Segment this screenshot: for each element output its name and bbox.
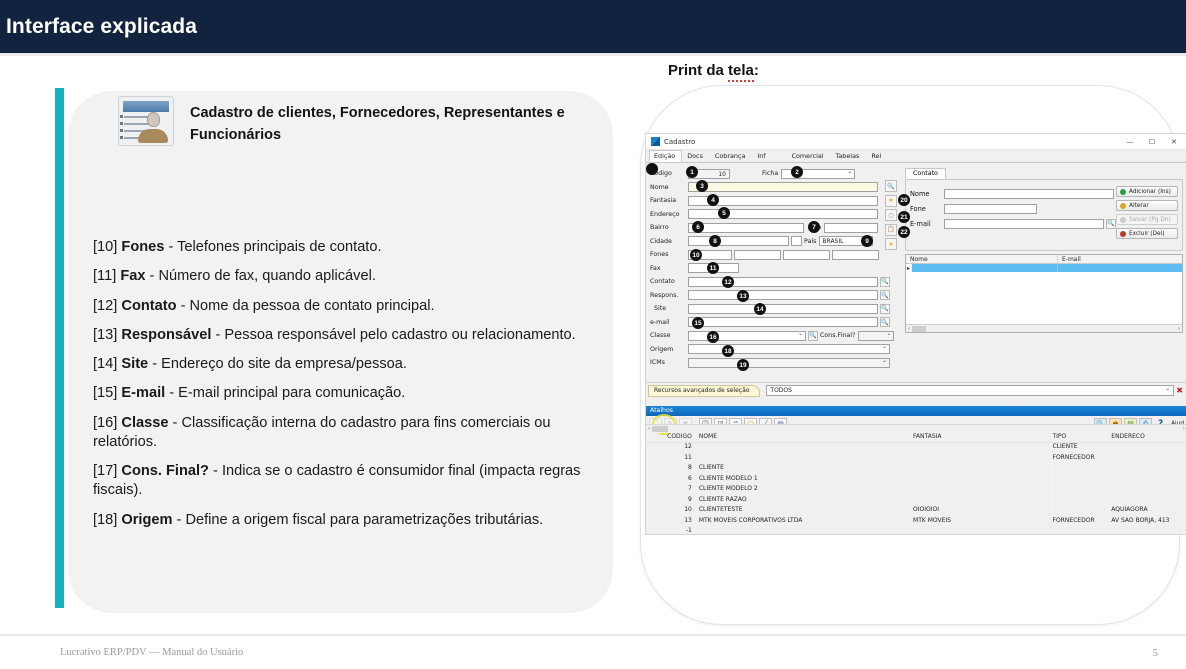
list-item: [14] Site - Endereço do site da empresa/… — [93, 355, 593, 374]
tab-strip: Edição Docs Cobrança Inf Comercial Tabel… — [646, 150, 1186, 163]
search-icon[interactable]: 🔍 — [880, 290, 890, 300]
item-term: Cons. Final? — [121, 463, 209, 479]
select-classe[interactable] — [688, 331, 806, 341]
contato-buttons: Adicionar (Ins) Alterar Salvar (Pg Dn) E… — [1116, 186, 1178, 242]
label-respons: Respons. — [650, 292, 688, 299]
minimize-icon[interactable]: — — [1119, 134, 1141, 149]
records-grid-header: CODIGO NOME FANTASIA TIPO ENDERECO — [646, 433, 1186, 443]
cell-fantasia — [909, 464, 1048, 475]
cell-endereco — [1108, 496, 1186, 507]
cell-nome: MTK MOVEIS CORPORATIVOS LTDA — [696, 517, 909, 528]
item-number: [14] — [93, 356, 117, 372]
cell-fantasia — [909, 527, 1048, 535]
maximize-icon[interactable]: ☐ — [1141, 134, 1163, 149]
tab-edicao[interactable]: Edição — [649, 150, 682, 162]
excluir-button[interactable]: Excluir (Del) — [1116, 228, 1178, 239]
item-term: Responsável — [121, 327, 211, 343]
row-selector-arrow: ▸ — [907, 265, 910, 272]
field-row-bairro: Bairro Cep — [650, 221, 902, 235]
tab-docs[interactable]: Docs — [682, 150, 710, 162]
label-icms: ICMs — [650, 359, 688, 366]
contato-panel: Contato Nome Fone E-mail 🔍 — [905, 167, 1183, 333]
copy-icon[interactable]: 📋 — [885, 224, 897, 236]
input-cidade[interactable] — [688, 236, 789, 246]
cell-endereco — [1108, 454, 1186, 465]
cell-codigo: 11 — [646, 454, 696, 465]
cell-fantasia — [909, 475, 1048, 486]
cell-endereco — [1108, 527, 1186, 535]
cell-endereco — [1108, 443, 1186, 454]
cell-tipo — [1049, 506, 1109, 517]
header-divider — [0, 53, 1186, 56]
table-row[interactable]: 13 MTK MOVEIS CORPORATIVOS LTDA MTK MOVE… — [646, 517, 1186, 528]
cell-codigo: 6 — [646, 475, 696, 486]
item-desc: - Nome da pessoa de contato principal. — [177, 298, 435, 314]
print-screen-label: Print da tela: — [668, 62, 759, 79]
cell-tipo — [1049, 475, 1109, 486]
advanced-filter-bar: Recursos avançados de seleção TODOS ✖ — [646, 382, 1186, 398]
list-item: [18] Origem - Define a origem fiscal par… — [93, 511, 593, 530]
window-body: Código 10 Ficha Nome Fantasia Endereço B… — [646, 163, 1186, 398]
input-endereco[interactable] — [688, 209, 878, 219]
callout-badge-22: 22 — [898, 226, 910, 238]
callout-badge-7: 7 — [808, 221, 820, 233]
column-header-nome[interactable]: Nome — [906, 255, 1058, 263]
item-term: Origem — [121, 512, 172, 528]
tab-cobranca[interactable]: Cobrança — [710, 150, 752, 162]
atalhos-bar: Atalhos — [646, 406, 1186, 416]
slide-footer: Lucrativo ERP/PDV — Manual do Usuário 5 — [0, 636, 1186, 669]
cell-codigo: 13 — [646, 517, 696, 528]
label-nome: Nome — [650, 184, 688, 191]
map-pin-icon[interactable]: ○ — [885, 209, 897, 221]
cell-codigo: -1 — [646, 527, 696, 535]
label-fax: Fax — [650, 265, 688, 272]
table-row[interactable]: 12 CLIENTE — [646, 443, 1186, 454]
scroll-thumb[interactable] — [652, 426, 668, 432]
slide-header: Interface explicada — [0, 0, 1186, 53]
list-item: [10] Fones - Telefones principais de con… — [93, 238, 593, 257]
star-icon[interactable]: ★ — [885, 238, 897, 250]
alterar-label: Alterar — [1129, 203, 1149, 209]
label-bairro: Bairro — [650, 224, 688, 231]
callout-badge-11: 11 — [707, 262, 719, 274]
callout-badge-6: 6 — [692, 221, 704, 233]
table-row[interactable]: 8 CLIENTE — [646, 464, 1186, 475]
item-desc: - Telefones principais de contato. — [164, 239, 381, 255]
tab-inf[interactable]: Inf — [752, 150, 772, 162]
field-row-endereco: Endereço — [650, 208, 902, 222]
callout-badge-8: 8 — [709, 235, 721, 247]
callout-badge-4: 4 — [707, 194, 719, 206]
callout-badge-13: 13 — [737, 290, 749, 302]
field-row-fantasia: Fantasia — [650, 194, 902, 208]
table-row[interactable]: 10 CLIENTETESTE OIOIOIOI AQUIAGORA — [646, 506, 1186, 517]
column-header-codigo[interactable]: CODIGO — [646, 433, 696, 442]
cell-nome — [696, 454, 909, 465]
item-number: [10] — [93, 239, 117, 255]
label-contato-nome: Nome — [910, 190, 944, 198]
column-header-tipo[interactable]: TIPO — [1049, 433, 1109, 442]
table-row[interactable]: 11 FORNECEDOR — [646, 454, 1186, 465]
label-cons-final: Cons.Final? — [820, 332, 855, 339]
window-title: Cadastro — [664, 138, 695, 146]
adicionar-label: Adicionar (Ins) — [1129, 189, 1171, 195]
scroll-right-icon[interactable]: › — [1183, 426, 1185, 432]
callout-badge-16: 16 — [707, 331, 719, 343]
list-item: [13] Responsável - Pessoa responsável pe… — [93, 326, 593, 345]
label-contato: Contato — [650, 278, 688, 285]
label-contato-email: E-mail — [910, 220, 944, 228]
label-pais: País — [804, 238, 816, 245]
salvar-label: Salvar (Pg Dn) — [1129, 217, 1171, 223]
column-header-nome[interactable]: NOME — [696, 433, 909, 442]
cell-endereco — [1108, 485, 1186, 496]
scroll-left-icon[interactable]: ‹ — [648, 426, 650, 432]
search-icon[interactable]: 🔍 — [1106, 219, 1116, 229]
callout-badge-3: 3 — [696, 180, 708, 192]
salvar-button: Salvar (Pg Dn) — [1116, 214, 1178, 225]
cell-tipo — [1049, 527, 1109, 535]
label-email: e-mail — [650, 319, 688, 326]
callout-badge-20: 20 — [898, 194, 910, 206]
cell-endereco — [1108, 464, 1186, 475]
field-row-contato: Contato 🔍 — [650, 275, 902, 289]
search-icon[interactable]: 🔍 — [880, 277, 890, 287]
contato-tabrow: Contato — [905, 167, 1183, 179]
tab-tabelas[interactable]: Tabelas — [831, 150, 867, 162]
item-number: [18] — [93, 512, 117, 528]
cell-nome: CLIENTE MODELO 1 — [696, 475, 909, 486]
alterar-button[interactable]: Alterar — [1116, 200, 1178, 211]
input-site[interactable] — [688, 304, 878, 314]
column-header-endereco[interactable]: ENDERECO — [1108, 433, 1186, 442]
search-icon[interactable]: 🔍 — [808, 331, 818, 341]
field-row-site: Site 🔍 — [650, 302, 902, 316]
excluir-label: Excluir (Del) — [1129, 231, 1164, 237]
table-row[interactable]: 6 CLIENTE MODELO 1 — [646, 475, 1186, 486]
cell-tipo: FORNECEDOR — [1049, 454, 1109, 465]
input-nome[interactable] — [688, 182, 878, 192]
contato-grid-header: Nome E-mail — [906, 255, 1182, 264]
callout-badge-10: 10 — [690, 249, 702, 261]
list-item: [12] Contato - Nome da pessoa de contato… — [93, 297, 593, 316]
list-item: [17] Cons. Final? - Indica se o cadastro… — [93, 462, 593, 501]
item-desc: - E-mail principal para comunicação. — [165, 385, 405, 401]
cell-fantasia — [909, 454, 1048, 465]
cell-endereco: AQUIAGORA — [1108, 506, 1186, 517]
table-row[interactable]: 9 CLIENTE RAZAO — [646, 496, 1186, 507]
cell-nome — [696, 443, 909, 454]
definition-list: [10] Fones - Telefones principais de con… — [93, 238, 593, 540]
clear-filter-icon[interactable]: ✖ — [1176, 386, 1183, 395]
input-contato-nome[interactable] — [944, 189, 1114, 199]
callout-badge-12: 12 — [722, 276, 734, 288]
advanced-selection-tab[interactable]: Recursos avançados de seleção — [648, 385, 760, 397]
callout-badge-14: 14 — [754, 303, 766, 315]
item-number: [16] — [93, 415, 117, 431]
callout-badge-21: 21 — [898, 211, 910, 223]
cell-nome: CLIENTE — [696, 464, 909, 475]
item-term: Fax — [120, 268, 145, 284]
input-contato[interactable] — [688, 277, 878, 287]
search-icon[interactable]: 🔍 — [880, 304, 890, 314]
star-icon[interactable]: ★ — [885, 195, 897, 207]
cell-fantasia — [909, 443, 1048, 454]
records-grid-hscrollbar[interactable]: ‹ › — [646, 424, 1186, 433]
input-fone-2[interactable] — [734, 250, 781, 260]
table-row[interactable]: 7 CLIENTE MODELO 2 — [646, 485, 1186, 496]
label-origem: Origem — [650, 346, 688, 353]
scroll-left-icon[interactable]: ‹ — [908, 326, 910, 332]
cadastro-window: Cadastro — ☐ ✕ Edição Docs Cobrança Inf … — [645, 133, 1186, 535]
cell-nome — [696, 527, 909, 535]
label-classe: Classe — [650, 332, 688, 339]
cell-codigo: 8 — [646, 464, 696, 475]
callout-badge-18: 18 — [722, 345, 734, 357]
adicionar-button[interactable]: Adicionar (Ins) — [1116, 186, 1178, 197]
table-row[interactable] — [912, 264, 1182, 272]
cell-nome: CLIENTE RAZAO — [696, 496, 909, 507]
tab-comercial[interactable]: Comercial — [787, 150, 831, 162]
callout-badge-9: 9 — [861, 235, 873, 247]
select-icms[interactable] — [688, 358, 890, 368]
window-controls: — ☐ ✕ — [1119, 134, 1185, 149]
search-icon[interactable]: 🔍 — [885, 180, 897, 192]
field-row-nome: Nome — [650, 181, 902, 195]
cell-tipo — [1049, 485, 1109, 496]
label-ficha: Ficha — [762, 170, 778, 177]
spellcheck-word: tela — [728, 62, 754, 82]
item-desc: - Número de fax, quando aplicável. — [145, 268, 375, 284]
card-title: Cadastro de clientes, Fornecedores, Repr… — [190, 96, 643, 147]
footer-document-title: Lucrativo ERP/PDV — Manual do Usuário — [60, 647, 243, 658]
input-respons[interactable] — [688, 290, 878, 300]
select-cons-final[interactable] — [858, 331, 894, 341]
cell-endereco: AV SAO BORJA, 413 — [1108, 517, 1186, 528]
trash-icon — [1120, 231, 1126, 237]
input-contato-fone[interactable] — [944, 204, 1037, 214]
list-item: [16] Classe - Classificação interna do c… — [93, 414, 593, 453]
pencil-icon — [1120, 203, 1126, 209]
cell-tipo — [1049, 496, 1109, 507]
list-item: [11] Fax - Número de fax, quando aplicáv… — [93, 267, 593, 286]
cell-fantasia: MTK MOVEIS — [909, 517, 1048, 528]
callout-badge-15: 15 — [692, 317, 704, 329]
input-email[interactable] — [688, 317, 878, 327]
callout-badge-19: 19 — [737, 359, 749, 371]
cell-tipo: FORNECEDOR — [1049, 517, 1109, 528]
callout-badge-2: 2 — [791, 166, 803, 178]
field-row-fones: Fones — [650, 248, 902, 262]
item-term: Contato — [121, 298, 176, 314]
window-titlebar: Cadastro — ☐ ✕ — [646, 134, 1186, 150]
field-row-respons: Respons. 🔍 — [650, 289, 902, 303]
callout-badge-1: 1 — [686, 166, 698, 178]
cell-tipo: CLIENTE — [1049, 443, 1109, 454]
cell-codigo: 12 — [646, 443, 696, 454]
item-desc: - Define a origem fiscal para parametriz… — [173, 512, 544, 528]
input-uf[interactable] — [791, 236, 802, 246]
close-icon[interactable]: ✕ — [1163, 134, 1185, 149]
select-origem[interactable] — [688, 344, 890, 354]
page-title: Interface explicada — [0, 15, 197, 39]
label-fones: Fones — [650, 251, 688, 258]
contato-fields: Nome Fone E-mail 🔍 Adicionar (Ins) — [905, 179, 1183, 251]
label-endereco: Endereço — [650, 211, 688, 218]
card-header: Cadastro de clientes, Fornecedores, Repr… — [118, 96, 643, 147]
callout-badge-spacer — [646, 163, 658, 175]
input-contato-email[interactable] — [944, 219, 1104, 229]
tab-contato[interactable]: Contato — [905, 168, 946, 179]
check-icon — [1120, 217, 1126, 223]
contato-grid-hscrollbar[interactable]: ‹ › — [906, 324, 1182, 332]
scroll-right-icon[interactable]: › — [1178, 326, 1180, 332]
cell-fantasia: OIOIOIOI — [909, 506, 1048, 517]
input-fone-3[interactable] — [783, 250, 830, 260]
label-contato-fone: Fone — [910, 205, 944, 213]
item-number: [15] — [93, 385, 117, 401]
item-desc: - Pessoa responsável pelo cadastro ou re… — [211, 327, 575, 343]
field-row-classe: Classe 🔍 Cons.Final? — [650, 329, 902, 343]
cell-nome: CLIENTETESTE — [696, 506, 909, 517]
item-desc: - Endereço do site da empresa/pessoa. — [148, 356, 407, 372]
field-row-email: e-mail 🔍 — [650, 316, 902, 330]
cell-tipo — [1049, 464, 1109, 475]
cell-fantasia — [909, 496, 1048, 507]
column-header-fantasia[interactable]: FANTASIA — [909, 433, 1048, 442]
column-header-email[interactable]: E-mail — [1058, 255, 1182, 263]
label-site: Site — [650, 305, 688, 312]
field-row-icms: ICMs — [650, 356, 902, 370]
item-number: [11] — [93, 268, 116, 284]
callout-badge-5: 5 — [718, 207, 730, 219]
input-bairro[interactable] — [688, 223, 804, 233]
plus-circle-icon — [1120, 189, 1126, 195]
field-row-origem: Origem — [650, 343, 902, 357]
label-fantasia: Fantasia — [650, 197, 688, 204]
cell-endereco — [1108, 475, 1186, 486]
item-number: [17] — [93, 463, 117, 479]
table-row[interactable]: -1 — [646, 527, 1186, 535]
cell-fantasia — [909, 485, 1048, 496]
cell-codigo: 7 — [646, 485, 696, 496]
cell-codigo: 9 — [646, 496, 696, 507]
accent-bar — [55, 88, 64, 608]
cell-nome: CLIENTE MODELO 2 — [696, 485, 909, 496]
tab-rel[interactable]: Rel — [866, 150, 888, 162]
list-item: [15] E-mail - E-mail principal para comu… — [93, 384, 593, 403]
item-term: Classe — [121, 415, 168, 431]
item-number: [12] — [93, 298, 117, 314]
cell-codigo: 10 — [646, 506, 696, 517]
search-icon[interactable]: 🔍 — [880, 317, 890, 327]
app-window-icon — [651, 137, 660, 146]
item-term: Site — [121, 356, 148, 372]
row-action-icon-column: 🔍 ★ ○ 📋 ★ — [885, 180, 899, 253]
field-row-fax: Fax — [650, 262, 902, 276]
footer-page-number: 5 — [1153, 647, 1159, 659]
scroll-thumb[interactable] — [912, 326, 926, 332]
cadastro-person-list-icon — [118, 96, 174, 146]
contato-grid[interactable]: Nome E-mail ▸ ‹ › — [905, 254, 1183, 333]
label-cidade: Cidade — [650, 238, 688, 245]
item-term: Fones — [121, 239, 164, 255]
input-cep[interactable] — [824, 223, 878, 233]
input-fone-4[interactable] — [832, 250, 879, 260]
cadastro-form: Código 10 Ficha Nome Fantasia Endereço B… — [650, 167, 902, 370]
item-number: [13] — [93, 327, 117, 343]
item-term: E-mail — [121, 385, 165, 401]
filter-select[interactable]: TODOS — [766, 385, 1174, 396]
